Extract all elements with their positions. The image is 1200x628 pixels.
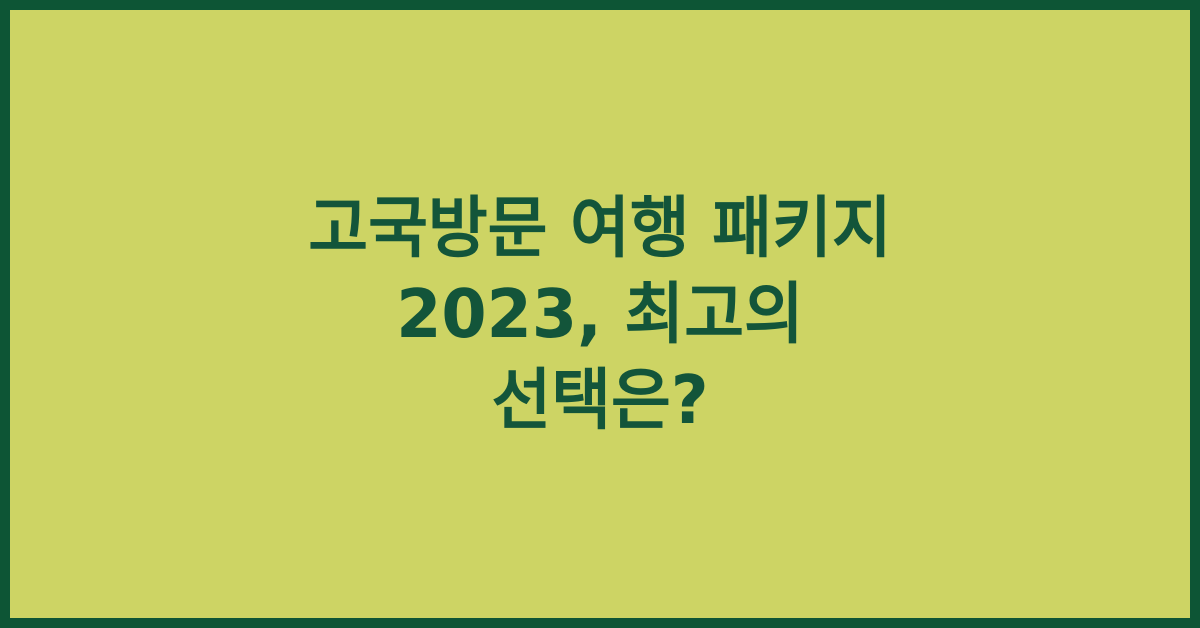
title-line-2: 2023, 최고의: [67, 271, 1134, 357]
title-line-3: 선택은?: [67, 357, 1134, 443]
title-line-1: 고국방문 여행 패키지: [67, 185, 1134, 271]
title-block: 고국방문 여행 패키지 2023, 최고의 선택은?: [10, 10, 1190, 618]
title-card: 고국방문 여행 패키지 2023, 최고의 선택은?: [0, 0, 1200, 628]
